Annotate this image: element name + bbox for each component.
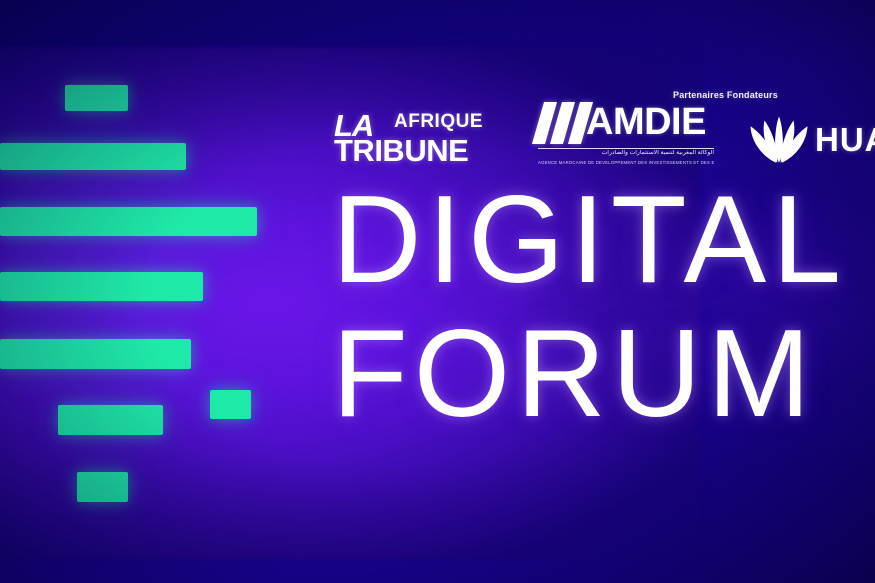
huawei-wordmark: HUAWEI [815,123,875,156]
amdie-french-subtitle: AGENCE MAROCAINE DE DEVELOPPEMENT DES IN… [538,160,714,165]
amdie-logo[interactable]: AMDIE الوكالة المغربية لتنمية الاستثمارا… [536,96,724,170]
partners-caption: Partenaires Fondateurs [673,90,778,100]
event-title-line-2: FORUM [332,316,847,434]
la-tribune-afrique-logo[interactable]: LA AFRIQUE TRIBUNE [334,104,504,170]
la-tribune-afrique-text: AFRIQUE [394,112,483,131]
event-title-line-1: DIGITAL [332,182,847,300]
amdie-divider [538,148,714,149]
partner-logos-row: LA AFRIQUE TRIBUNE AMDIE الوكالة المغربي… [334,84,875,170]
la-tribune-tribune-text: TRIBUNE [334,135,468,166]
huawei-flower-icon [750,114,808,164]
amdie-slashes-icon [536,102,592,144]
huawei-logo[interactable]: HUAWEI [750,108,875,170]
amdie-wordmark: AMDIE [586,103,706,141]
event-title: DIGITAL FORUM [332,182,847,434]
amdie-arabic-subtitle: الوكالة المغربية لتنمية الاستثمارات والص… [538,150,714,158]
event-banner: LA AFRIQUE TRIBUNE AMDIE الوكالة المغربي… [0,0,875,583]
